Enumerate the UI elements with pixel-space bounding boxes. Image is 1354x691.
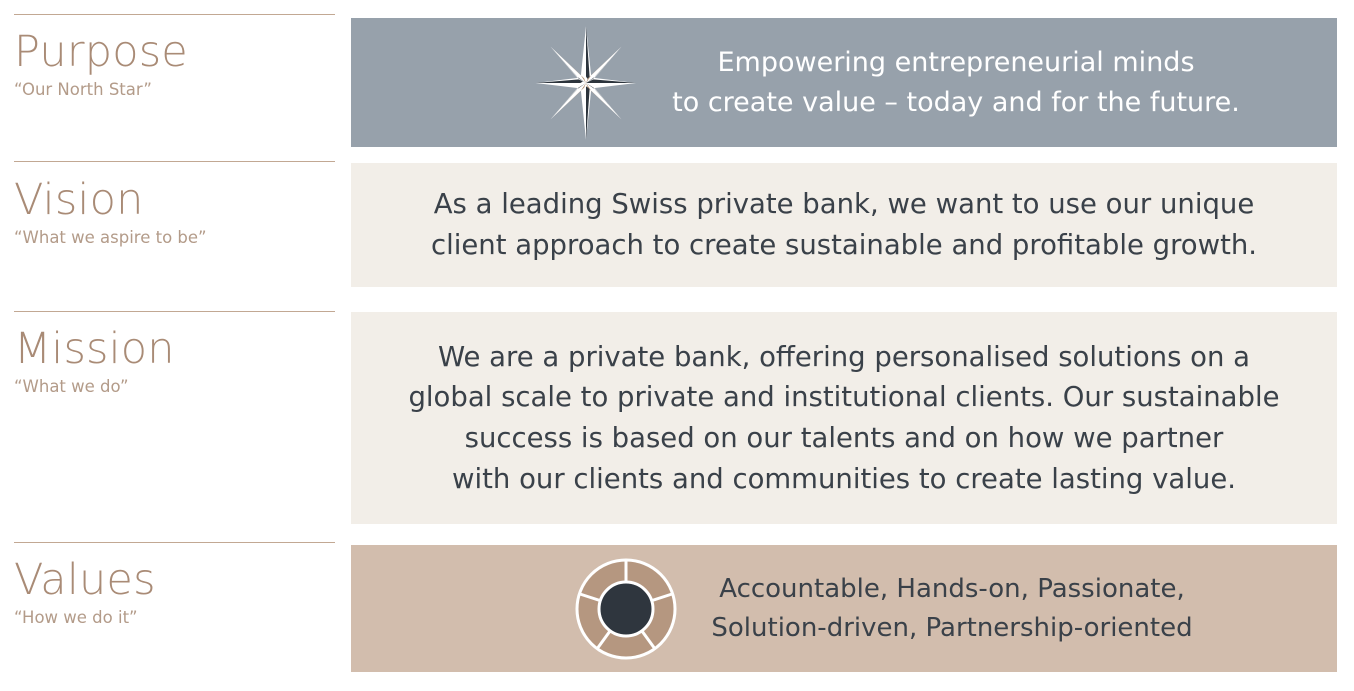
banner-vision: As a leading Swiss private bank, we want… <box>351 163 1337 287</box>
section-title-purpose: Purpose <box>14 30 344 76</box>
banner-mission: We are a private bank, offering personal… <box>351 312 1337 524</box>
section-title-values: Values <box>14 558 344 604</box>
banner-purpose: Empowering entrepreneurial minds to crea… <box>351 18 1337 147</box>
section-title-mission: Mission <box>14 327 344 373</box>
banner-text-vision: As a leading Swiss private bank, we want… <box>431 184 1257 265</box>
section-subtitle-vision: “What we aspire to be” <box>14 228 344 247</box>
banner-text-values: Accountable, Hands-on, Passionate, Solut… <box>711 570 1192 648</box>
divider-values <box>14 542 335 543</box>
compass-star-icon <box>530 22 642 144</box>
divider-vision <box>14 161 335 162</box>
section-subtitle-mission: “What we do” <box>14 377 344 396</box>
section-subtitle-purpose: “Our North Star” <box>14 80 344 99</box>
section-title-vision: Vision <box>14 178 344 224</box>
banner-text-mission: We are a private bank, offering personal… <box>408 337 1279 500</box>
divider-purpose <box>14 14 335 15</box>
values-wheel-icon <box>573 556 679 662</box>
slide-canvas: Purpose “Our North Star” Vision “What we… <box>0 0 1354 691</box>
section-subtitle-values: “How we do it” <box>14 608 344 627</box>
section-label-vision: Vision “What we aspire to be” <box>14 178 344 247</box>
section-label-purpose: Purpose “Our North Star” <box>14 30 344 99</box>
label-column: Purpose “Our North Star” Vision “What we… <box>0 0 351 691</box>
divider-mission <box>14 311 335 312</box>
section-label-mission: Mission “What we do” <box>14 327 344 396</box>
section-label-values: Values “How we do it” <box>14 558 344 627</box>
banner-text-purpose: Empowering entrepreneurial minds to crea… <box>672 43 1240 123</box>
banner-values: Accountable, Hands-on, Passionate, Solut… <box>351 545 1337 672</box>
